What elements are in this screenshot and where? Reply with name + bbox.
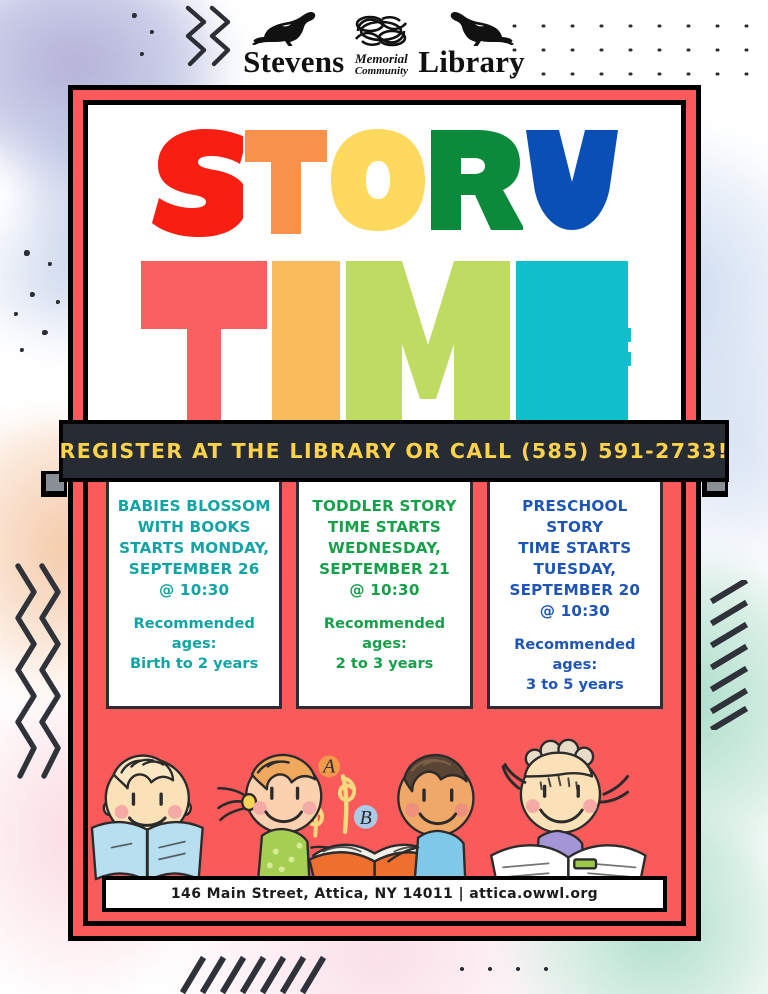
register-banner: REGISTER AT THE LIBRARY OR CALL (585) 59…: [59, 420, 729, 482]
address-text: 146 Main Street, Attica, NY 14011 | atti…: [171, 886, 598, 902]
logo-memorial-text: Memorial: [355, 52, 408, 65]
title-letter-M: [343, 258, 513, 426]
card-line: TIME STARTS: [518, 538, 631, 559]
diagonal-slashes-bottom: [180, 954, 330, 994]
title-letter-R: [427, 127, 523, 252]
card-ages-label: Recommended ages:: [498, 635, 652, 675]
ink-speck: [24, 250, 30, 256]
poster-canvas: Stevens Memorial Community: [0, 0, 768, 994]
ink-speck: [20, 348, 24, 352]
card-line: TIME STARTS: [328, 517, 441, 538]
poster-frame-red-band: REGISTER AT THE LIBRARY OR CALL (585) 59…: [73, 90, 696, 936]
card-ages-value: 2 to 3 years: [336, 654, 434, 674]
card-line-time: @ 10:30: [349, 580, 419, 601]
ink-speck: [42, 330, 48, 335]
card-line: WITH BOOKS: [138, 517, 251, 538]
logo-left-word: Stevens: [243, 46, 344, 77]
card-ages-value: Birth to 2 years: [130, 654, 258, 674]
title-letter-T: [243, 127, 329, 252]
program-cards: BABIES BLOSSOM WITH BOOKS STARTS MONDAY,…: [88, 443, 681, 709]
program-card-preschool[interactable]: PRESCHOOL STORY TIME STARTS TUESDAY, SEP…: [487, 479, 663, 709]
card-ages-label: Recommended ages:: [117, 614, 271, 654]
ink-speck: [14, 312, 18, 316]
diagonal-slashes-right: [706, 580, 758, 730]
card-line-time: @ 10:30: [159, 580, 229, 601]
card-line: SEPTEMBER 21: [319, 559, 450, 580]
ink-speck: [48, 262, 52, 266]
svg-text:B: B: [360, 807, 372, 829]
program-card-toddler[interactable]: TODDLER STORY TIME STARTS WEDNESDAY, SEP…: [296, 479, 472, 709]
title-letter-E: [513, 258, 631, 426]
card-line: STARTS MONDAY,: [119, 538, 269, 559]
lion-silhouette-icon: [252, 12, 336, 46]
register-banner-text: REGISTER AT THE LIBRARY OR CALL (585) 59…: [60, 439, 729, 463]
logo-community-text: Community: [355, 66, 408, 77]
title-letter-T2: [139, 258, 269, 426]
title-letter-Y: [523, 127, 621, 252]
title-letter-O: [329, 127, 427, 252]
address-footer: 146 Main Street, Attica, NY 14011 | atti…: [102, 876, 667, 912]
svg-text:A: A: [321, 755, 336, 777]
poster-title-panel: [88, 105, 681, 443]
kid-blonde-boy: [92, 756, 203, 882]
card-ages-label: Recommended ages:: [307, 614, 461, 654]
card-line: TODDLER STORY: [312, 496, 456, 517]
logo-middle-words: Memorial Community: [355, 52, 408, 76]
title-line-time: [139, 258, 631, 426]
card-line: WEDNESDAY,: [328, 538, 441, 559]
library-logo: Stevens Memorial Community: [0, 6, 768, 82]
title-letter-S: [149, 127, 243, 252]
zigzag-decoration-left: [8, 560, 70, 790]
logo-right-word: Library: [418, 46, 524, 77]
card-line: PRESCHOOL STORY: [498, 496, 652, 538]
card-line-time: @ 10:30: [540, 601, 610, 622]
celtic-knot-icon: [348, 11, 414, 51]
card-line: SEPTEMBER 20: [509, 580, 640, 601]
ink-speck: [30, 292, 35, 297]
ink-speck: [56, 300, 60, 304]
card-ages-value: 3 to 5 years: [526, 675, 624, 695]
poster-frame: REGISTER AT THE LIBRARY OR CALL (585) 59…: [68, 85, 701, 941]
poster-body: REGISTER AT THE LIBRARY OR CALL (585) 59…: [83, 100, 686, 926]
title-letter-I: [269, 258, 343, 426]
card-line: TUESDAY,: [533, 559, 616, 580]
card-line: BABIES BLOSSOM: [118, 496, 271, 517]
kids-illustration-svg: A B: [88, 735, 681, 895]
title-line-story: [149, 127, 621, 252]
card-line: SEPTEMBER 26: [129, 559, 260, 580]
program-card-babies[interactable]: BABIES BLOSSOM WITH BOOKS STARTS MONDAY,…: [106, 479, 282, 709]
lion-silhouette-icon: [430, 12, 514, 46]
